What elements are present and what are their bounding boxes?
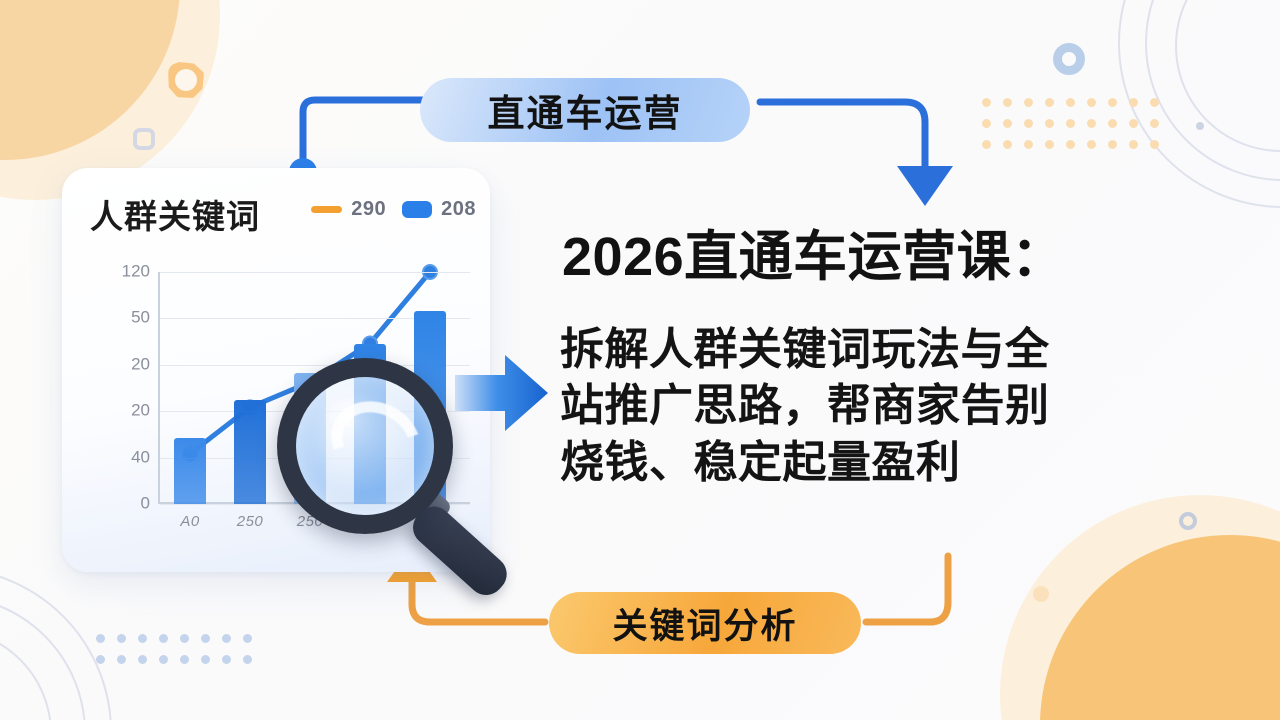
- badge-top[interactable]: 直通车运营: [420, 78, 750, 142]
- badge-bottom[interactable]: 关键词分析: [549, 592, 861, 654]
- page-subtitle: 拆解人群关键词玩法与全 站推广思路，帮商家告别 烧钱、稳定起量盈利: [560, 322, 1250, 491]
- page-title: 2026直通车运营课：: [562, 212, 1066, 291]
- subtitle-line-1: 拆解人群关键词玩法与全: [560, 322, 1250, 378]
- subtitle-line-2: 站推广思路，帮商家告别: [560, 378, 1250, 434]
- poster-canvas: 人群关键词 290 208 120502020400A0250250260180: [0, 0, 1280, 720]
- subtitle-line-3: 烧钱、稳定起量盈利: [560, 435, 1250, 491]
